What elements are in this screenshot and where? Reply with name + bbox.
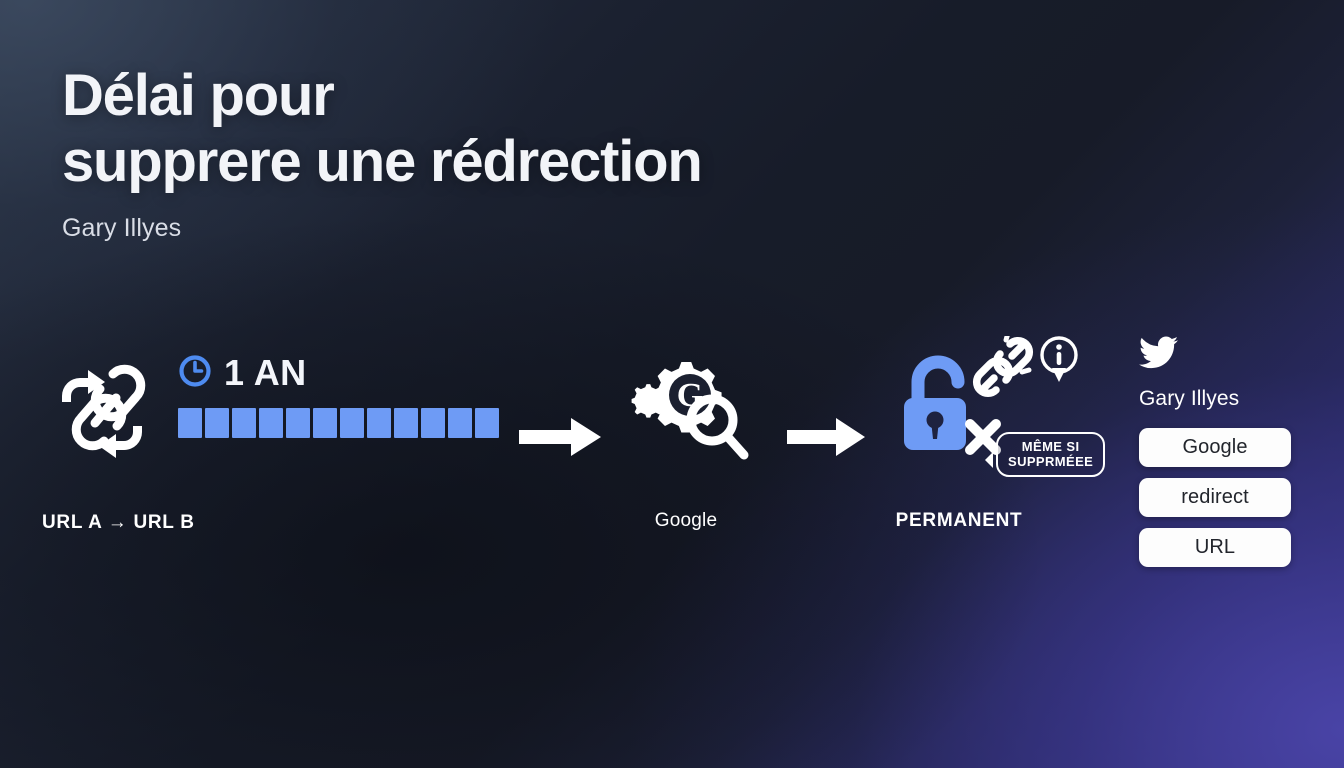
timer-segment xyxy=(178,408,202,438)
timer-segment xyxy=(367,408,391,438)
timer-segment xyxy=(286,408,310,438)
timer-segment xyxy=(448,408,472,438)
timer-segment xyxy=(313,408,337,438)
flow-node-permanent: MÊME SI SUPPRMÉEE PERMANENT xyxy=(900,354,1018,472)
twitter-bird-icon xyxy=(1139,357,1179,374)
callout-bubble-line-1: MÊME SI xyxy=(1008,439,1093,454)
header: Délai pour supprere une rédrection Gary … xyxy=(62,66,702,243)
twitter-tag-pill[interactable]: Google xyxy=(1139,428,1291,467)
twitter-account-name: Gary Illyes xyxy=(1139,387,1291,411)
page-title: Délai pour supprere une rédrection xyxy=(62,66,702,192)
timer-header: 1 AN xyxy=(178,352,503,394)
timer-segment xyxy=(394,408,418,438)
flow-node-google: G Google xyxy=(620,358,752,468)
clock-icon xyxy=(178,354,212,393)
twitter-tag-pill[interactable]: redirect xyxy=(1139,478,1291,517)
flow-node-timer: 1 AN xyxy=(178,352,503,452)
page-subtitle: Gary Illyes xyxy=(62,214,702,243)
flow-node-permanent-label: PERMANENT xyxy=(870,510,1048,532)
page-title-line-1: Délai pour xyxy=(62,63,334,128)
twitter-tag-list: GoogleredirectURL xyxy=(1139,428,1291,567)
arrow-right-icon-1 xyxy=(519,414,601,465)
arrow-right-icon-2 xyxy=(787,414,865,465)
timer-segment xyxy=(205,408,229,438)
timer-segment xyxy=(259,408,283,438)
timer-segment xyxy=(340,408,364,438)
flow-node-google-label: Google xyxy=(620,510,752,532)
timer-progress-bar xyxy=(178,408,503,438)
page-title-line-2: supprere une rédrection xyxy=(62,132,702,192)
link-redirect-icon xyxy=(52,457,152,474)
timer-segment xyxy=(475,408,499,438)
gears-magnifier-google-icon: G xyxy=(620,457,752,474)
flow-node-redirect-label: URL A → URL B xyxy=(42,512,232,534)
twitter-tag-pill[interactable]: URL xyxy=(1139,528,1291,567)
callout-bubble: MÊME SI SUPPRMÉEE xyxy=(996,432,1105,477)
timer-duration-text: 1 AN xyxy=(224,355,307,391)
twitter-card: Gary Illyes GoogleredirectURL xyxy=(1139,336,1291,567)
callout-bubble-line-2: SUPPRMÉEE xyxy=(1008,454,1093,469)
flow-node-redirect: URL A → URL B xyxy=(52,360,152,470)
timer-segment xyxy=(232,408,256,438)
info-pin-icon xyxy=(1038,334,1080,391)
slide-stage: Délai pour supprere une rédrection Gary … xyxy=(0,0,1344,768)
broken-link-icon xyxy=(972,336,1034,403)
timer-segment xyxy=(421,408,445,438)
